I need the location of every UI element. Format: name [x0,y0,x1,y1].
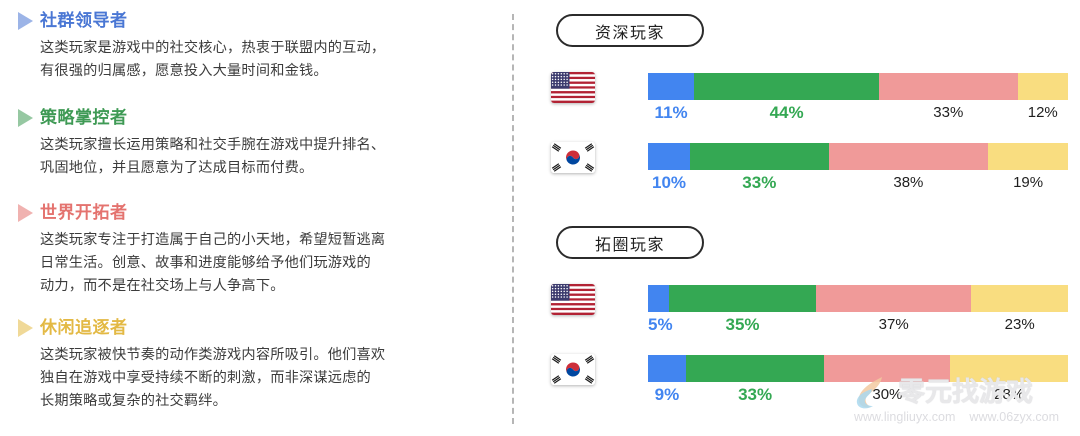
triangle-right-icon [18,12,33,30]
persona-description: 这类玩家被快节奏的动作类游戏内容所吸引。他们喜欢独自在游戏中享受持续不断的刺激，… [40,344,385,413]
chart-group-label: 资深玩家 [556,14,704,47]
persona-header: 策略掌控者 [40,105,385,131]
stacked-bar [648,143,1068,170]
stacked-bar-labels: 5%35%37%23% [648,313,1068,337]
bar-segment-label: 35% [669,313,816,337]
chart-row: 10%33%38%19% [540,140,1080,196]
triangle-right-icon [18,109,33,127]
bar-segment [824,355,950,382]
persona-description-line: 这类玩家专注于打造属于自己的小天地，希望短暂逃离 [40,229,385,252]
persona-header: 世界开拓者 [40,200,385,226]
chart-group-label: 拓圈玩家 [556,226,704,259]
bar-segment-label: 33% [690,171,829,195]
stacked-bar-labels: 9%33%30%28% [648,383,1068,407]
stacked-bar-labels: 11%44%33%12% [648,101,1068,125]
persona-block: 世界开拓者这类玩家专注于打造属于自己的小天地，希望短暂逃离日常生活。创意、故事和… [0,200,385,298]
bar-segment-label: 44% [694,101,879,125]
kr-flag-icon [551,142,595,173]
bar-segment-label: 19% [988,171,1068,195]
triangle-right-icon [18,319,33,337]
infographic-root: 社群领导者这类玩家是游戏中的社交核心，热衷于联盟内的互动，有很强的归属感，愿意投… [0,0,1080,436]
bar-segment [829,143,989,170]
chart-row: 11%44%33%12% [540,70,1080,126]
bar-segment [648,143,690,170]
persona-header: 社群领导者 [40,8,385,34]
chart-group-label-text: 资深玩家 [595,19,665,43]
chart-group-label-text: 拓圈玩家 [595,231,665,255]
persona-description-line: 动力，而不是在社交场上与人争高下。 [40,275,385,298]
bar-segment [648,73,694,100]
bar-segment-label: 30% [824,383,950,407]
persona-description: 这类玩家是游戏中的社交核心，热衷于联盟内的互动，有很强的归属感，愿意投入大量时间… [40,37,385,83]
bar-segment [648,285,669,312]
stacked-bar-labels: 10%33%38%19% [648,171,1068,195]
bar-segment [988,143,1068,170]
stacked-bar [648,285,1068,312]
bar-segment [1018,73,1068,100]
bar-segment [971,285,1068,312]
persona-header: 休闲追逐者 [40,315,385,341]
charts-panel: 资深玩家11%44%33%12%10%33%38%19%拓圈玩家5%35%37%… [540,0,1080,436]
chart-row: 5%35%37%23% [540,282,1080,338]
persona-description-line: 日常生活。创意、故事和进度能够给予他们玩游戏的 [40,252,385,275]
persona-description-line: 巩固地位，并且愿意为了达成目标而付费。 [40,157,385,180]
persona-description-line: 长期策略或复杂的社交羁绊。 [40,390,385,413]
persona-description-line: 这类玩家擅长运用策略和社交手腕在游戏中提升排名、 [40,134,385,157]
bar-segment [686,355,825,382]
persona-description-line: 有很强的归属感，愿意投入大量时间和金钱。 [40,60,385,83]
bar-segment [648,355,686,382]
chart-group: 拓圈玩家5%35%37%23%9%33%30%28% [540,226,1080,426]
kr-flag-icon [551,354,595,385]
stacked-bar [648,355,1068,382]
bar-segment [694,73,879,100]
persona-title: 世界开拓者 [40,200,128,226]
bar-segment-label: 37% [816,313,971,337]
persona-list-panel: 社群领导者这类玩家是游戏中的社交核心，热衷于联盟内的互动，有很强的归属感，愿意投… [0,0,500,436]
chart-group: 资深玩家11%44%33%12%10%33%38%19% [540,14,1080,214]
us-flag-icon [551,284,595,315]
persona-block: 休闲追逐者这类玩家被快节奏的动作类游戏内容所吸引。他们喜欢独自在游戏中享受持续不… [0,315,385,413]
bar-segment [879,73,1018,100]
bar-segment [690,143,829,170]
vertical-dashed-divider [512,14,514,424]
stacked-bar [648,73,1068,100]
persona-description-line: 这类玩家被快节奏的动作类游戏内容所吸引。他们喜欢 [40,344,385,367]
bar-segment-label: 28% [950,383,1068,407]
bar-segment-label: 38% [829,171,989,195]
triangle-right-icon [18,204,33,222]
persona-block: 策略掌控者这类玩家擅长运用策略和社交手腕在游戏中提升排名、巩固地位，并且愿意为了… [0,105,385,180]
bar-segment-label: 5% [648,313,669,337]
persona-title: 策略掌控者 [40,105,128,131]
bar-segment-label: 9% [648,383,686,407]
bar-segment-label: 33% [879,101,1018,125]
chart-row: 9%33%30%28% [540,352,1080,408]
bar-segment-label: 23% [971,313,1068,337]
persona-description: 这类玩家专注于打造属于自己的小天地，希望短暂逃离日常生活。创意、故事和进度能够给… [40,229,385,298]
persona-title: 社群领导者 [40,8,128,34]
bar-segment-label: 12% [1018,101,1068,125]
bar-segment [669,285,816,312]
bar-segment-label: 11% [648,101,694,125]
persona-title: 休闲追逐者 [40,315,128,341]
persona-description-line: 这类玩家是游戏中的社交核心，热衷于联盟内的互动， [40,37,385,60]
bar-segment [816,285,971,312]
persona-block: 社群领导者这类玩家是游戏中的社交核心，热衷于联盟内的互动，有很强的归属感，愿意投… [0,8,385,83]
bar-segment-label: 10% [648,171,690,195]
persona-description: 这类玩家擅长运用策略和社交手腕在游戏中提升排名、巩固地位，并且愿意为了达成目标而… [40,134,385,180]
us-flag-icon [551,72,595,103]
bar-segment-label: 33% [686,383,825,407]
bar-segment [950,355,1068,382]
persona-description-line: 独自在游戏中享受持续不断的刺激，而非深谋远虑的 [40,367,385,390]
